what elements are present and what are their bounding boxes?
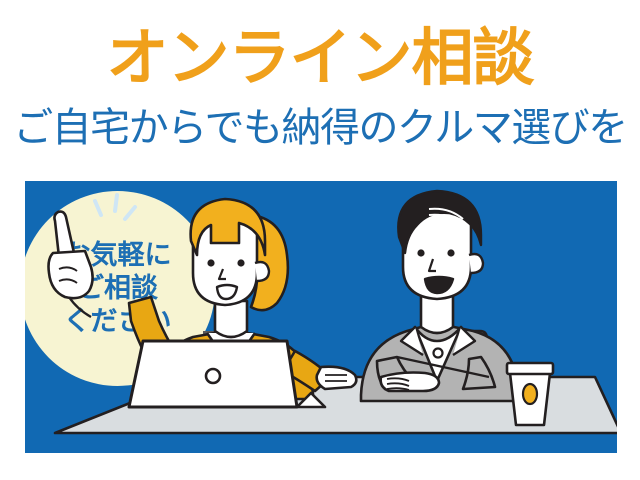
sparkle-icon	[95, 195, 135, 219]
cup-logo-icon	[523, 384, 537, 404]
page-title: オンライン相談	[0, 22, 640, 94]
pointing-hand-icon	[49, 212, 93, 317]
page-subtitle: ご自宅からでも納得のクルマ選びを	[0, 103, 640, 153]
consultation-illustration	[25, 181, 617, 453]
headline-block: オンライン相談 ご自宅からでも納得のクルマ選びを	[0, 0, 640, 172]
man-eye-left	[417, 249, 424, 256]
illustration-panel: お気軽に ご相談 ください	[25, 181, 617, 453]
man-figure	[361, 191, 519, 401]
man-eye-right	[447, 249, 454, 256]
coffee-cup-icon	[507, 363, 553, 425]
online-consultation-banner: オンライン相談 ご自宅からでも納得のクルマ選びを お気軽に ご相談 ください	[0, 0, 640, 480]
woman-eye-left	[207, 259, 214, 266]
laptop-logo-icon	[206, 369, 220, 383]
woman-eye-right	[237, 259, 244, 266]
